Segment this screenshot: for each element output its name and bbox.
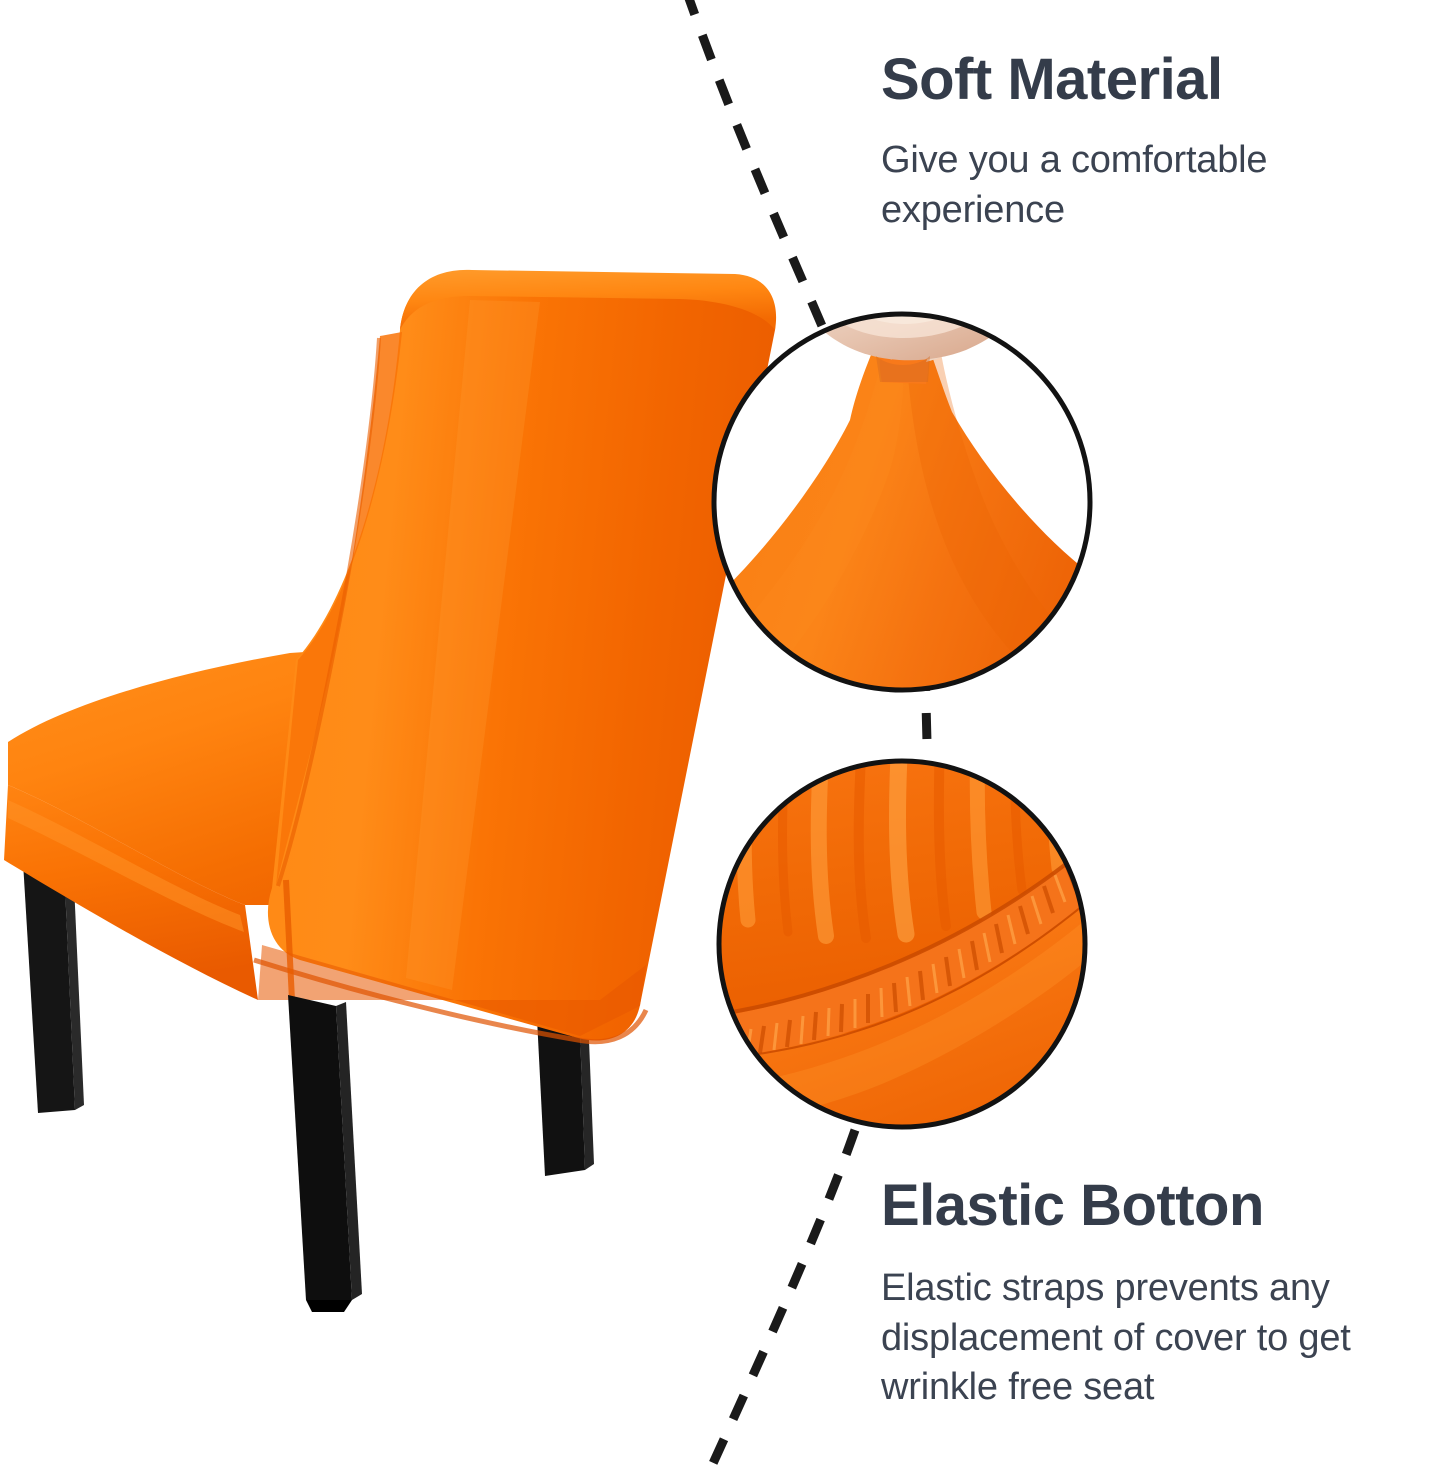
feature-elastic-botton: Elastic Botton Elastic straps prevents a… [881, 1176, 1426, 1412]
elastic-botton-headline: Elastic Botton [881, 1176, 1426, 1236]
soft-material-body: Give you a comfortable experience [881, 136, 1386, 235]
orange-covered-dining-chair [4, 270, 776, 1312]
soft-material-headline: Soft Material [881, 50, 1411, 110]
infographic-canvas: Soft Material Give you a comfortable exp… [0, 0, 1445, 1481]
elastic-botton-callout-circle [688, 736, 1114, 1140]
feature-soft-material: Soft Material Give you a comfortable exp… [881, 50, 1411, 235]
elastic-botton-body: Elastic straps prevents any displacement… [881, 1264, 1426, 1412]
chair-leg-front-left [288, 995, 362, 1312]
